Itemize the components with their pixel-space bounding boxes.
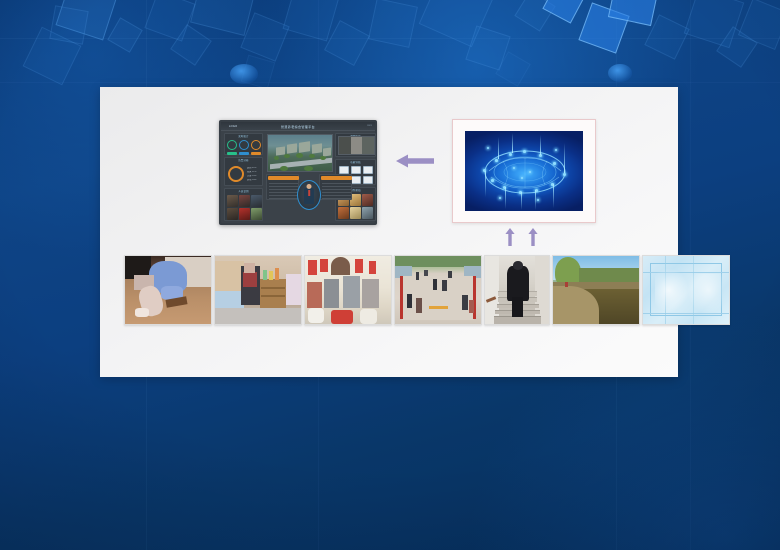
photo-1-foot	[135, 308, 149, 317]
photo-2-drawer-line	[261, 287, 285, 289]
scenario-photo-strip	[124, 255, 660, 325]
nav-icon-tile[interactable]	[351, 176, 361, 184]
brain-beam	[512, 133, 513, 153]
map-greenery	[309, 154, 315, 158]
photo-2-bottle	[275, 268, 279, 280]
photo-2-dresser	[260, 279, 286, 309]
photo-7-highlight	[655, 268, 689, 312]
photo-2-bottle	[269, 271, 273, 281]
table-row	[269, 192, 298, 193]
photo-3-banner	[308, 260, 317, 275]
flow-arrow-to-dashboard	[396, 154, 434, 168]
map-building	[287, 143, 297, 153]
flow-arrow-up-left	[505, 228, 515, 246]
gauge-ring	[239, 140, 249, 150]
table-row	[322, 198, 351, 199]
person-thumb[interactable]	[239, 195, 250, 207]
donut-legend-item: 其他 10%	[247, 179, 262, 182]
brain-beam	[521, 192, 522, 210]
map-greenery	[304, 166, 313, 171]
donut-legend-item: 久滞 15%	[247, 175, 262, 178]
person-thumb[interactable]	[251, 195, 262, 207]
camera-feed[interactable]	[338, 136, 375, 155]
photo-4-barrier	[429, 306, 448, 309]
panel-icon-grid-title: 功能导航	[336, 161, 375, 165]
table-row	[322, 195, 351, 196]
table-row	[269, 186, 298, 187]
photo-2-person-vest	[243, 272, 257, 287]
event-thumb[interactable]	[362, 207, 373, 219]
photo-3-person	[362, 279, 379, 308]
photo-3-banner	[369, 261, 377, 274]
table-left-header	[268, 176, 299, 180]
avatar-head	[307, 184, 312, 189]
gauge-button[interactable]	[227, 152, 237, 155]
person-thumb[interactable]	[227, 195, 238, 207]
dashboard-body: LOGO 智慧养老综合管理平台 2021 实时统计 告警分析 跌倒 32% 离床…	[221, 122, 375, 223]
photo-2-floor	[215, 308, 301, 324]
camera-tile	[351, 137, 363, 154]
brain-node	[553, 162, 556, 165]
dashboard-header: LOGO 智慧养老综合管理平台 2021	[221, 122, 375, 131]
panel-map-view[interactable]	[267, 134, 333, 172]
table-row	[322, 186, 351, 187]
brain-node	[509, 153, 512, 156]
photo-4-person	[442, 280, 446, 290]
table-row	[322, 183, 351, 184]
photo-4-person	[433, 279, 437, 290]
photo-4-person	[459, 276, 463, 286]
map-building	[312, 143, 322, 153]
brain-node	[499, 197, 501, 199]
donut-chart	[228, 166, 244, 182]
brain-beam	[553, 184, 554, 208]
photo-2-bed-right	[286, 274, 301, 305]
flow-arrow-up-right	[528, 228, 538, 246]
photo-6[interactable]	[552, 255, 640, 325]
photo-3-person	[343, 276, 360, 307]
camera-tile	[339, 137, 351, 154]
nav-icon-tile[interactable]	[363, 176, 373, 184]
photo-4-person	[469, 300, 474, 314]
gauge-button[interactable]	[239, 152, 249, 155]
photo-4-person	[416, 272, 419, 279]
photo-6-pavilion	[565, 282, 568, 287]
content-card: LOGO 智慧养老综合管理平台 2021 实时统计 告警分析 跌倒 32% 离床…	[100, 87, 678, 377]
gauge-button[interactable]	[251, 152, 261, 155]
photo-4[interactable]	[394, 255, 482, 325]
panel-stat-gauges[interactable]: 实时统计	[224, 133, 263, 155]
photo-3-bowl	[308, 308, 323, 323]
ai-brain-image	[465, 131, 583, 211]
photo-4-person	[416, 298, 422, 313]
gauge-ring	[227, 140, 237, 150]
event-thumb[interactable]	[362, 194, 373, 206]
panel-person-grid-title: 人员识别	[225, 190, 262, 194]
photo-5-person-coat	[507, 266, 529, 301]
panel-donut[interactable]: 告警分析 跌倒 32% 离床 21% 久滞 15% 其他 10%	[224, 157, 263, 186]
dashboard-logo-icon	[224, 125, 228, 129]
brain-beam	[498, 137, 499, 159]
dashboard-title: 智慧养老综合管理平台	[281, 125, 315, 129]
panel-table-left[interactable]	[266, 174, 299, 200]
table-row	[269, 198, 298, 199]
map-building	[299, 141, 310, 153]
brain-beam	[505, 187, 506, 209]
map-greenery	[284, 154, 290, 158]
brain-node	[523, 150, 526, 153]
person-thumb[interactable]	[227, 208, 238, 220]
brain-node	[563, 173, 566, 176]
map-greenery	[274, 156, 279, 160]
nav-icon-tile[interactable]	[363, 166, 373, 174]
photo-3-person	[307, 282, 322, 308]
photo-3-arch	[331, 257, 350, 275]
photo-4-person	[462, 295, 468, 310]
photo-3-bowl	[360, 309, 377, 324]
person-profile-avatar[interactable]	[297, 180, 321, 210]
person-thumb[interactable]	[251, 208, 262, 220]
brain-node	[495, 159, 498, 162]
event-thumb[interactable]	[338, 207, 349, 219]
photo-5-person-legs	[512, 297, 524, 317]
photo-3-banner	[355, 259, 363, 273]
nav-icon-tile[interactable]	[351, 166, 361, 174]
photo-7-highlight	[688, 274, 722, 315]
brain-node	[491, 179, 494, 182]
nav-icon-tile[interactable]	[339, 166, 349, 174]
table-row	[269, 183, 298, 184]
photo-3[interactable]	[304, 255, 392, 325]
photo-1[interactable]	[124, 255, 212, 325]
photo-5-person-head	[513, 261, 523, 269]
brain-node	[529, 171, 531, 173]
photo-3-tray	[331, 310, 353, 324]
dashboard-screenshot[interactable]: LOGO 智慧养老综合管理平台 2021 实时统计 告警分析 跌倒 32% 离床…	[219, 120, 377, 225]
brain-beam	[535, 190, 536, 210]
panel-stat-gauges-title: 实时统计	[225, 135, 262, 139]
table-row	[269, 189, 298, 190]
panel-person-grid[interactable]: 人员识别	[224, 188, 263, 221]
dashboard-logo-label: LOGO	[229, 125, 237, 128]
event-thumb[interactable]	[350, 207, 361, 219]
photo-3-banner	[320, 259, 328, 273]
map-greenery	[320, 156, 326, 160]
table-row	[269, 195, 298, 196]
table-right-header	[321, 176, 352, 180]
photo-2-person-head	[244, 263, 255, 273]
map-greenery	[280, 166, 288, 171]
brain-beam	[540, 135, 541, 155]
photo-2[interactable]	[214, 255, 302, 325]
gauge-ring	[251, 140, 261, 150]
map-greenery	[296, 153, 303, 158]
dashboard-header-meta: 2021	[367, 125, 372, 127]
brain-node	[555, 149, 557, 151]
photo-2-drawer-line	[261, 295, 285, 297]
donut-legend-item: 离床 21%	[247, 171, 262, 174]
brain-node	[521, 177, 523, 179]
brain-beam	[564, 143, 565, 173]
ai-brain-frame[interactable]	[452, 119, 596, 223]
panel-table-right[interactable]	[319, 174, 352, 200]
table-row	[322, 192, 351, 193]
brain-node	[537, 199, 539, 201]
camera-tile	[362, 137, 374, 154]
photo-4-person	[407, 294, 412, 308]
photo-4-person	[424, 270, 427, 277]
photo-7[interactable]	[642, 255, 730, 325]
photo-3-person	[324, 279, 339, 308]
brain-beam	[485, 171, 486, 197]
photo-4-person	[448, 271, 451, 278]
photo-2-bottle	[263, 270, 267, 281]
panel-donut-title: 告警分析	[225, 159, 262, 163]
brain-node	[513, 167, 515, 169]
photo-5[interactable]	[484, 255, 550, 325]
avatar-tie	[308, 190, 310, 196]
photo-4-pole	[400, 276, 403, 318]
table-row	[322, 189, 351, 190]
donut-legend-item: 跌倒 32%	[247, 167, 262, 170]
brain-node	[487, 147, 489, 149]
person-thumb[interactable]	[239, 208, 250, 220]
